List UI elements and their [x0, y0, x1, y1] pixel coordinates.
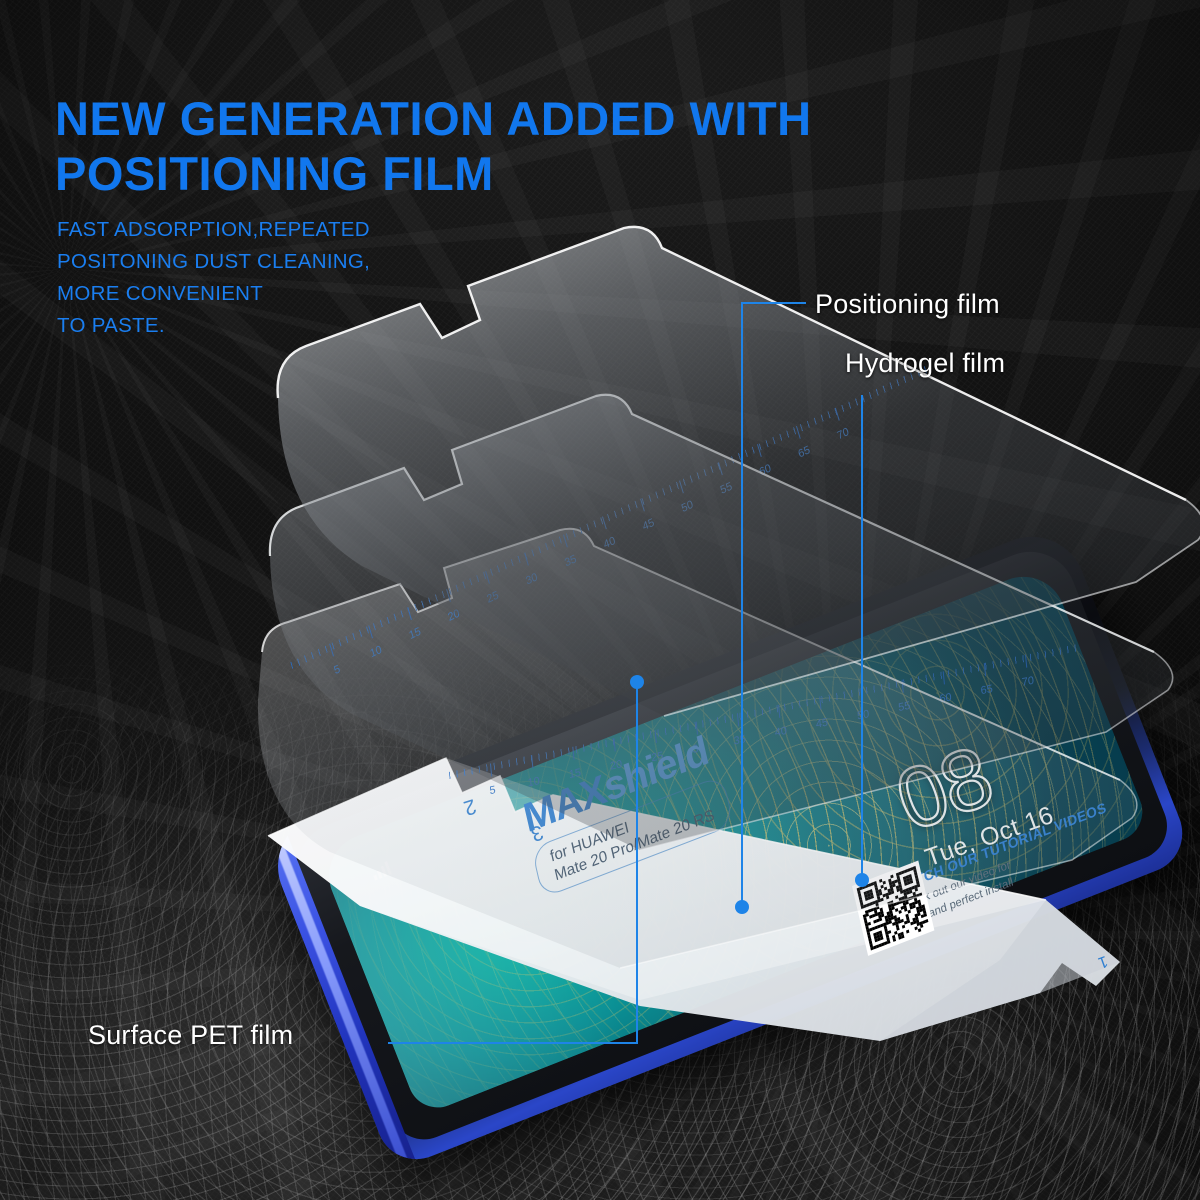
- callout-hydrogel-film: Hydrogel film: [845, 348, 1005, 379]
- product-banner: 08 Tue, Oct 16: [0, 0, 1200, 1200]
- page-subtitle: FAST ADSORPTION,REPEATED POSITONING DUST…: [57, 214, 370, 342]
- page-title: NEW GENERATION ADDED WITH POSITIONING FI…: [55, 92, 955, 201]
- callout-positioning-film: Positioning film: [815, 289, 1000, 320]
- callout-surface-pet-film: Surface PET film: [88, 1020, 293, 1051]
